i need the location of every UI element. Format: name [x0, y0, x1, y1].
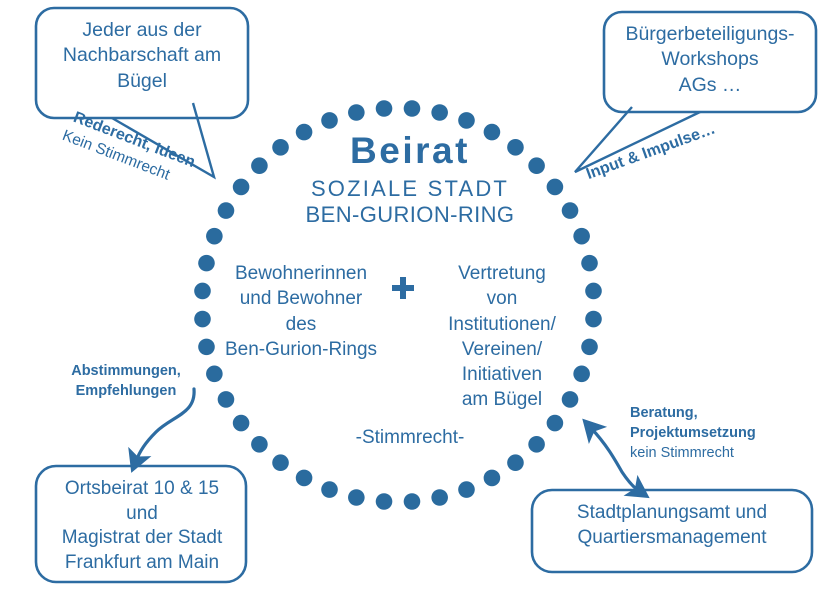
diagram-canvas: Jeder aus derNachbarschaft amBügel Bürge…: [0, 0, 820, 600]
subtitle-ben-gurion-ring: BEN-GURION-RING: [250, 202, 570, 228]
page-title: Beirat: [250, 130, 570, 172]
bubble-top-right-text: Bürgerbeteiligungs-WorkshopsAGs …: [612, 22, 808, 98]
box-bottom-right-text: Stadtplanungsamt undQuartiersmanagement: [538, 501, 806, 550]
arrow-label-beratung-regular: kein Stimmrecht: [630, 443, 790, 463]
plus-icon: [390, 275, 416, 301]
arrow-label-abstimmungen: Abstimmungen,Empfehlungen: [46, 362, 206, 401]
arrow-label-beratung-bold: Beratung,Projektumsetzung: [630, 403, 790, 443]
box-bottom-left-text: Ortsbeirat 10 & 15undMagistrat der Stadt…: [44, 477, 240, 576]
footer-note-stimmrecht: -Stimmrecht-: [300, 427, 520, 449]
arrow-label-beratung: Beratung,Projektumsetzung kein Stimmrech…: [630, 403, 790, 463]
bubble-top-left-text: Jeder aus derNachbarschaft amBügel: [44, 18, 240, 94]
center-column-right: VertretungvonInstitutionen/Vereinen/Init…: [428, 261, 576, 413]
center-column-left: Bewohnerinnenund BewohnerdesBen-Gurion-R…: [212, 261, 390, 362]
subtitle-soziale-stadt: SOZIALE STADT: [250, 176, 570, 202]
